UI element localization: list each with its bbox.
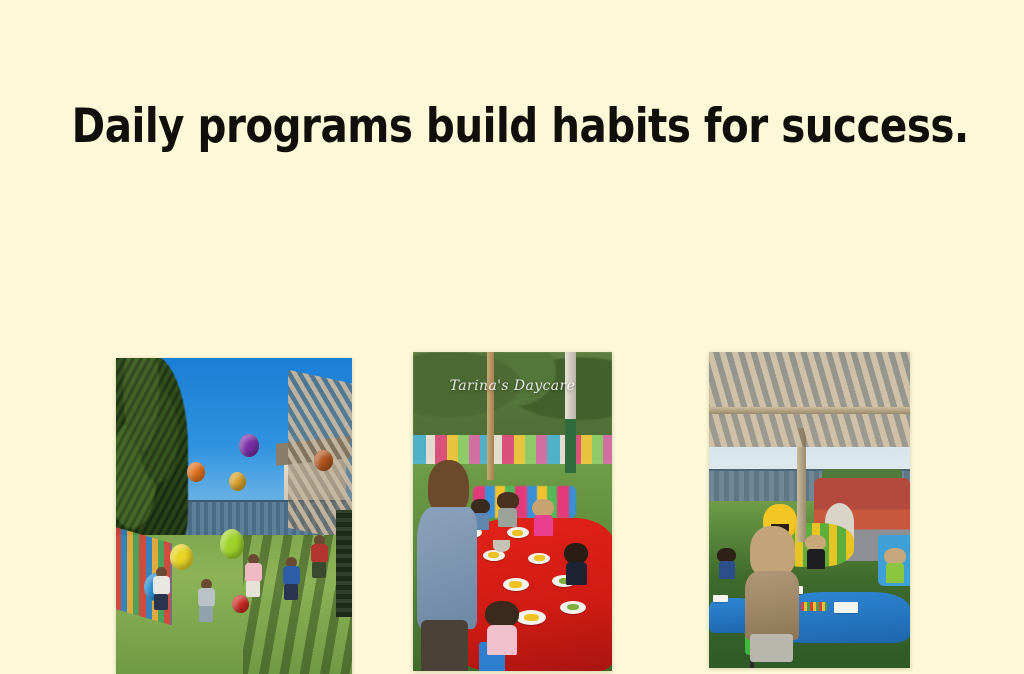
child-legs (154, 594, 168, 610)
child-figure (196, 579, 216, 623)
child-figure (281, 557, 301, 605)
child-figure (151, 567, 171, 613)
art-supplies (801, 602, 827, 611)
child-legs (246, 581, 260, 597)
photo-gallery: Tarina's Daycare (0, 176, 1024, 506)
balloon-copper (314, 450, 333, 471)
child-figure (497, 492, 519, 525)
child-body (886, 563, 904, 583)
child-body (487, 625, 517, 655)
snack-time-scene: Tarina's Daycare (413, 352, 612, 671)
child-figure (717, 548, 736, 578)
child-figure (243, 554, 263, 602)
balloon-purple (239, 434, 259, 457)
bowl (493, 540, 510, 552)
teacher-figure (417, 460, 477, 671)
teacher-figure (745, 526, 799, 668)
plate (560, 601, 586, 614)
pergola-shade (709, 352, 910, 447)
child-body (534, 515, 553, 536)
support-pole (565, 352, 576, 473)
adult-body (311, 544, 328, 563)
child-legs (284, 584, 298, 600)
child-body (807, 549, 825, 568)
child-body (566, 562, 587, 585)
balloon-gold (229, 472, 246, 491)
child-body (198, 588, 215, 607)
child-figure (564, 543, 588, 583)
child-head (497, 492, 519, 509)
paper-sheet (713, 595, 728, 602)
teacher-shorts (750, 634, 793, 662)
side-fence (336, 510, 352, 617)
teacher-hair (750, 526, 796, 577)
teacher-top (745, 571, 799, 639)
child-body (153, 576, 170, 595)
child-legs (199, 606, 213, 622)
paper-sheet (834, 602, 858, 613)
child-body (719, 561, 735, 579)
photo-snacktime[interactable]: Tarina's Daycare (413, 352, 612, 671)
child-figure (884, 548, 906, 582)
child-figure (532, 499, 554, 535)
child-body (245, 563, 262, 582)
craft-table-scene (709, 352, 910, 668)
wooden-post (487, 352, 494, 480)
cypress-tree (116, 358, 188, 550)
child-body (498, 508, 517, 527)
photo-crafttable[interactable] (709, 352, 910, 668)
photo-balloons[interactable] (116, 358, 352, 674)
teacher-pants (421, 620, 469, 671)
slide-canvas: Daily programs build habits for success. (0, 0, 1024, 576)
child-figure (485, 601, 519, 653)
child-head (485, 601, 519, 628)
balloon-play-scene (116, 358, 352, 674)
balloon-green (220, 529, 244, 559)
balloon-orange (187, 462, 205, 482)
adult-figure (310, 535, 328, 575)
child-figure (805, 535, 826, 567)
page-title: Daily programs build habits for success. (72, 101, 953, 153)
denim-jacket (417, 507, 477, 629)
